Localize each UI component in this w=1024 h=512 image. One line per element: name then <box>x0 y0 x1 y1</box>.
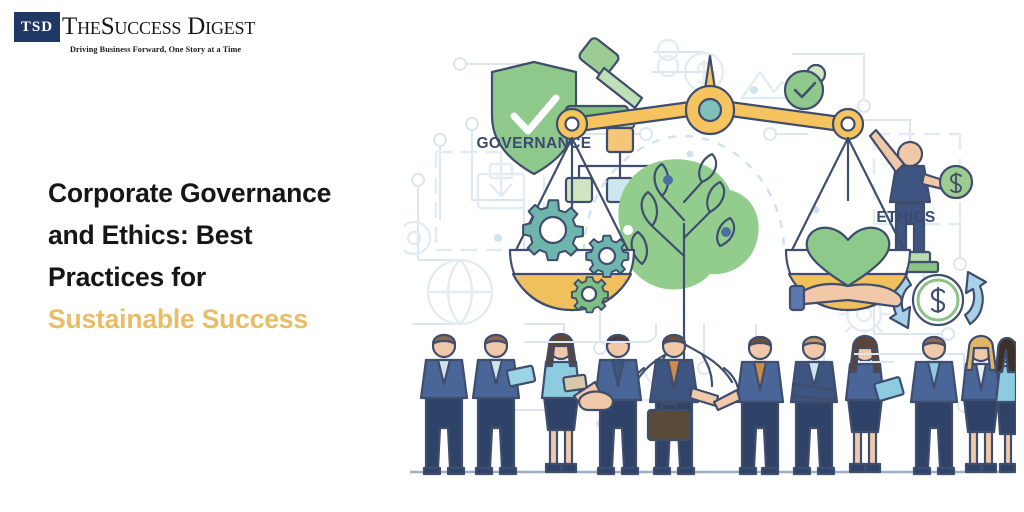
logo-mark-tsd: TSD <box>14 12 60 42</box>
faint-globe-icon <box>428 260 492 324</box>
person-9 <box>911 337 957 474</box>
logo-word-success-rest: UCCESS <box>114 18 181 38</box>
person-8 <box>846 336 904 472</box>
logo-word-the-rest: HE <box>77 18 101 38</box>
handshake-icon <box>579 392 613 411</box>
hero-illustration: .ln{fill:none;stroke:#dde6ee;stroke-widt… <box>404 24 1016 486</box>
headline-line-1: Corporate Governance <box>48 178 331 208</box>
person-6 <box>714 337 783 474</box>
logo-word-digest-d: D <box>187 13 205 40</box>
headline-line-3: Practices for <box>48 262 206 292</box>
logo-word-the-t: T <box>62 13 77 40</box>
person-11 <box>996 338 1016 472</box>
logo-wordmark: THESUCCESS DIGEST <box>62 12 255 42</box>
logo-word-success-s: S <box>101 13 115 40</box>
faint-link-icon <box>658 40 678 76</box>
person-10 <box>962 336 1000 472</box>
logo-tagline: Driving Business Forward, One Story at a… <box>70 45 241 54</box>
doc-lines-decor <box>524 324 900 362</box>
headline-line-2: and Ethics: Best <box>48 220 252 250</box>
logo-word-digest-rest: IGEST <box>205 18 255 38</box>
business-people-row <box>410 324 1016 474</box>
person-7 <box>791 337 837 474</box>
person-1 <box>421 335 467 474</box>
site-logo[interactable]: TSD THESUCCESS DIGEST Driving Business F… <box>14 12 234 56</box>
person-2 <box>473 335 535 474</box>
headline-line-4-accent: Sustainable Success <box>48 304 308 334</box>
check-badge-icon <box>785 65 825 109</box>
page-title: Corporate Governance and Ethics: Best Pr… <box>48 172 398 340</box>
